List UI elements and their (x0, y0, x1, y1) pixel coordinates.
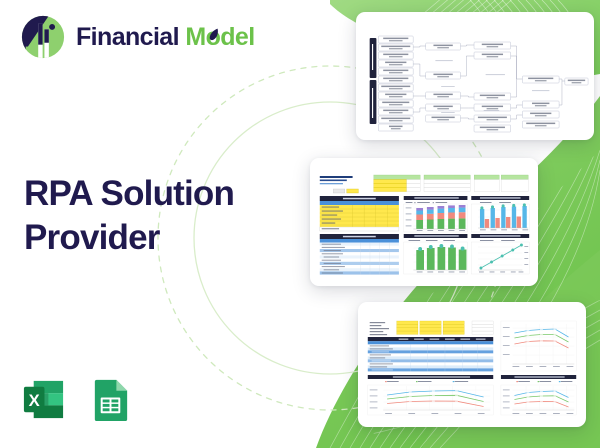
file-format-icons: X (20, 376, 134, 423)
financial-statements-screenshot (362, 306, 582, 423)
svg-text:X: X (29, 391, 40, 410)
financial-statements-card-inner (358, 302, 586, 427)
brand-word-financial: Financial (76, 23, 179, 51)
financial-dashboard-card-inner (310, 158, 538, 286)
brand-wordmark: Financial Model (76, 25, 255, 50)
financial-dashboard-screenshot (314, 162, 534, 282)
page-title: RPA Solution Provider (24, 172, 289, 260)
page-title-line-2: Provider (24, 218, 160, 257)
excel-file-icon[interactable]: X (20, 376, 67, 423)
brand-word-model-m: M (185, 23, 205, 51)
brand-word-model-o: o (206, 25, 221, 50)
dupont-tree-card[interactable] (356, 12, 594, 140)
financial-ratio-tree-diagram (360, 16, 590, 136)
leaf-drop-icon (209, 28, 219, 41)
dupont-tree-card-inner (356, 12, 594, 140)
google-sheets-file-icon[interactable] (87, 376, 134, 423)
brand-lockup: Financial Model (20, 14, 255, 60)
brand-word-model-del: del (220, 23, 254, 51)
financial-model-logo-icon (20, 14, 66, 60)
financial-statements-card[interactable] (358, 302, 586, 427)
page-title-line-1: RPA Solution (24, 174, 234, 213)
financial-dashboard-card[interactable] (310, 158, 538, 286)
slide-canvas: Financial Model RPA Solution Provider X (0, 0, 600, 448)
